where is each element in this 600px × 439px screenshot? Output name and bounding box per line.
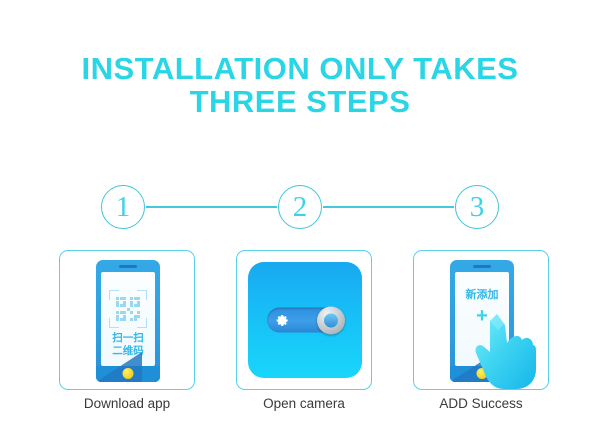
scan-qr-label-line-1: 扫一扫	[101, 332, 155, 345]
card-download-app[interactable]: 扫一扫 二维码	[59, 250, 195, 390]
qr-code-grid	[116, 297, 140, 321]
card-add-success[interactable]: 新添加 +	[413, 250, 549, 390]
settings-tile	[248, 262, 362, 378]
card-open-camera[interactable]	[236, 250, 372, 390]
step-circle-2[interactable]: 2	[278, 185, 322, 229]
step-connector-1-2	[146, 206, 277, 208]
qr-code-icon	[109, 290, 147, 328]
step-number-2: 2	[279, 186, 321, 228]
phone-speaker-icon	[473, 265, 491, 268]
step-connector-2-3	[323, 206, 454, 208]
caption-download-app: Download app	[47, 396, 207, 411]
step-circle-3[interactable]: 3	[455, 185, 499, 229]
toggle-switch[interactable]	[267, 308, 343, 333]
phone-illustration: 扫一扫 二维码	[96, 260, 160, 382]
page-title-line-2: THREE STEPS	[0, 85, 600, 118]
step-circle-1[interactable]: 1	[101, 185, 145, 229]
step-number-1: 1	[102, 186, 144, 228]
new-add-label: 新添加	[455, 289, 509, 302]
step-number-3: 3	[456, 186, 498, 228]
phone-home-button-icon	[123, 368, 134, 379]
caption-add-success: ADD Success	[401, 396, 561, 411]
toggle-knob[interactable]	[317, 306, 345, 334]
phone-speaker-icon	[119, 265, 137, 268]
phone-chin-wedge	[96, 352, 142, 382]
page-title-line-1: INSTALLATION ONLY TAKES	[0, 52, 600, 85]
card-captions: Download app Open camera ADD Success	[0, 396, 600, 418]
gear-icon	[276, 313, 290, 327]
qr-cell	[137, 318, 140, 321]
caption-open-camera: Open camera	[224, 396, 384, 411]
page-title: INSTALLATION ONLY TAKES THREE STEPS	[0, 52, 600, 118]
step-cards: 扫一扫 二维码	[0, 250, 600, 390]
step-indicator: 1 2 3	[0, 185, 600, 235]
pointing-hand-icon	[474, 303, 536, 389]
